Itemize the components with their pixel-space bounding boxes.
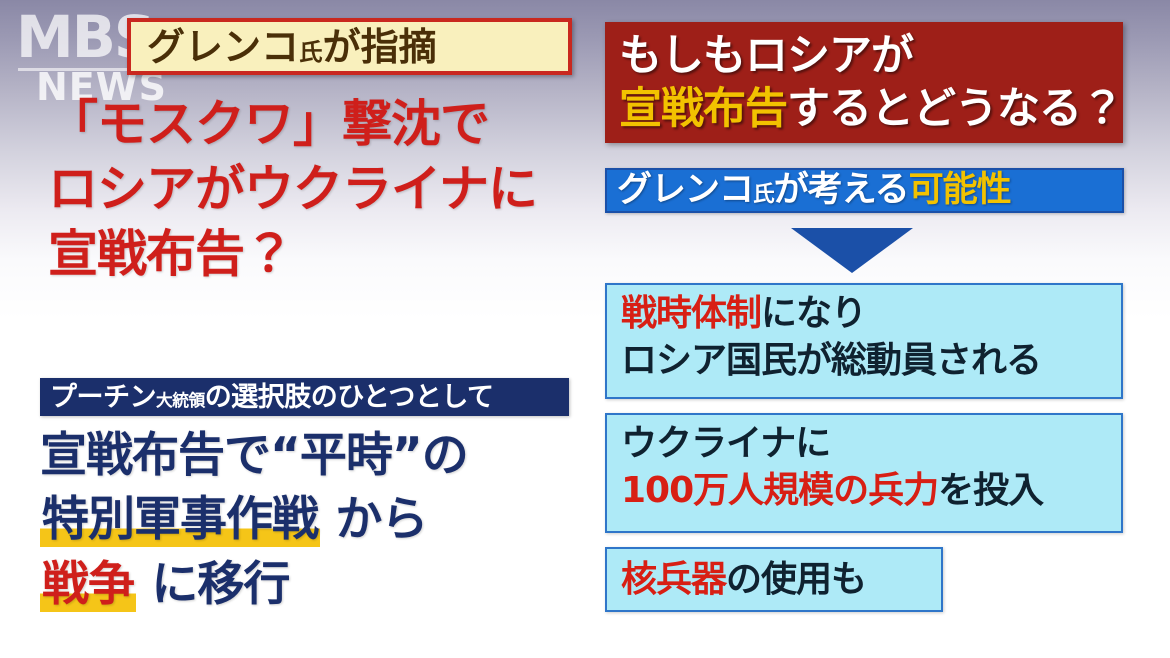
outcome-box-2: ウクライナに 100万人規模の兵力を投入	[605, 413, 1123, 533]
right-question-line-2: 宣戦布告するとどうなる？	[619, 83, 1123, 136]
right-question-gold-phrase: 宣戦布告	[619, 84, 787, 134]
right-attribution-banner: グレンコ氏が考える可能性	[605, 168, 1124, 213]
left-headline-line-1: 「モスクワ」撃沈で	[48, 92, 588, 157]
left-body-line-2: 特別軍事作戦 から	[40, 488, 585, 552]
outcome-1-line-2: ロシア国民が総動員される	[621, 338, 1121, 385]
left-headline-line-3: 宣戦布告？	[48, 222, 588, 287]
left-source-verb: が指摘	[323, 25, 437, 69]
left-context-banner: プーチン大統領の選択肢のひとつとして	[40, 378, 569, 416]
down-arrow-icon	[791, 228, 913, 273]
left-headline: 「モスクワ」撃沈で ロシアがウクライナに 宣戦布告？	[48, 92, 588, 287]
outcome-2-line-2: 100万人規模の兵力を投入	[621, 468, 1121, 515]
left-headline-line-2: ロシアがウクライナに	[48, 157, 588, 222]
outcome-2-line-2-tail: を投入	[938, 470, 1043, 511]
left-context-title: 大統領	[156, 390, 205, 410]
right-attribution-gold-phrase: 可能性	[909, 170, 1011, 210]
outcome-1-red-phrase: 戦時体制	[621, 293, 761, 334]
outcome-1-line-1-tail: になり	[761, 293, 866, 334]
outcome-2-red-phrase: 100万人規模の兵力	[621, 470, 938, 511]
right-attribution-honorific: 氏	[753, 182, 774, 207]
left-body-line-3: 戦争 に移行	[40, 553, 585, 617]
left-context-person: プーチン	[50, 382, 156, 413]
outcome-box-1: 戦時体制になり ロシア国民が総動員される	[605, 283, 1123, 399]
right-question-box: もしもロシアが 宣戦布告するとどうなる？	[605, 22, 1123, 143]
right-attribution-label: グレンコ氏が考える可能性	[607, 173, 1011, 208]
outcome-3-red-phrase: 核兵器	[621, 559, 726, 600]
right-attribution-mid: が考える	[774, 170, 909, 210]
right-question-line-1: もしもロシアが	[619, 30, 1123, 83]
left-body-line-1: 宣戦布告で“平時”の	[40, 424, 585, 488]
right-question-line-2-tail: するとどうなる？	[787, 84, 1123, 134]
news-graphic-stage: MBS NEWS グレンコ氏が指摘 「モスクワ」撃沈で ロシアがウクライナに 宣…	[0, 0, 1170, 658]
left-context-banner-label: プーチン大統領の選択肢のひとつとして	[40, 384, 494, 411]
outcome-box-3: 核兵器の使用も	[605, 547, 943, 612]
left-source-banner: グレンコ氏が指摘	[127, 18, 572, 75]
left-body-line-2-tail: から	[320, 492, 427, 547]
left-body-highlight-war: 戦争	[40, 557, 136, 612]
left-body-text: 宣戦布告で“平時”の 特別軍事作戦 から 戦争 に移行	[40, 424, 585, 617]
left-body-highlight-operation: 特別軍事作戦	[40, 492, 320, 547]
left-source-name: グレンコ	[147, 25, 299, 69]
left-panel: グレンコ氏が指摘 「モスクワ」撃沈で ロシアがウクライナに 宣戦布告？ プーチン…	[0, 0, 590, 658]
left-body-line-3-tail: に移行	[136, 557, 289, 612]
left-source-honorific: 氏	[299, 38, 323, 66]
right-attribution-person: グレンコ	[617, 170, 753, 210]
outcome-2-line-1: ウクライナに	[621, 421, 1121, 468]
left-context-tail: の選択肢のひとつとして	[205, 382, 494, 413]
right-panel: もしもロシアが 宣戦布告するとどうなる？ グレンコ氏が考える可能性 戦時体制にな…	[600, 0, 1170, 658]
outcome-1-line-1: 戦時体制になり	[621, 291, 1121, 338]
outcome-3-line-1-tail: の使用も	[726, 559, 866, 600]
outcome-3-line-1: 核兵器の使用も	[621, 557, 941, 604]
left-source-banner-label: グレンコ氏が指摘	[131, 28, 437, 66]
